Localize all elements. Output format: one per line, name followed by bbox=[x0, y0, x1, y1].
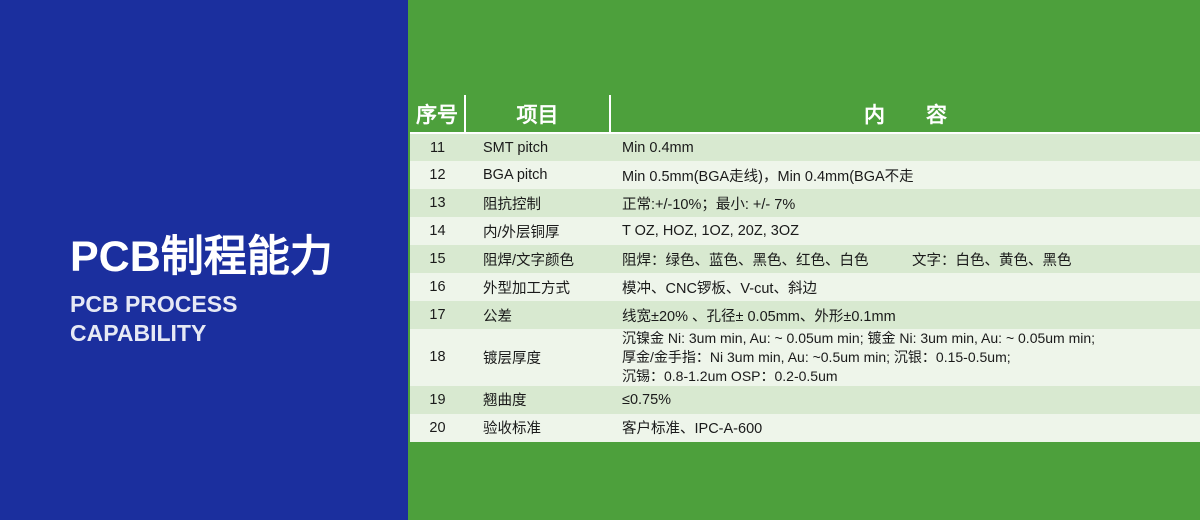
cell-content: 模冲、CNC锣板、V-cut、斜边 bbox=[610, 273, 1200, 301]
capability-table-wrapper: 序号 项目 内 容 11SMT pitchMin 0.4mm12BGA pitc… bbox=[410, 95, 1200, 442]
cell-item: 内/外层铜厚 bbox=[465, 217, 610, 245]
cell-content-primary: 阻焊：绿色、蓝色、黑色、红色、白色 bbox=[622, 249, 912, 270]
table-row: 12BGA pitchMin 0.5mm(BGA走线)，Min 0.4mm(BG… bbox=[410, 161, 1200, 189]
cell-item: 翘曲度 bbox=[465, 386, 610, 414]
cell-no: 12 bbox=[410, 161, 465, 189]
cell-content: 沉镍金 Ni: 3um min, Au: ~ 0.05um min; 镀金 Ni… bbox=[610, 329, 1200, 386]
column-header-no: 序号 bbox=[410, 95, 465, 133]
page-title-en: PCB PROCESS CAPABILITY bbox=[70, 290, 237, 349]
table-body: 11SMT pitchMin 0.4mm12BGA pitchMin 0.5mm… bbox=[410, 133, 1200, 442]
cell-item: 镀层厚度 bbox=[465, 329, 610, 386]
table-header: 序号 项目 内 容 bbox=[410, 95, 1200, 133]
cell-content: 正常:+/-10%；最小: +/- 7% bbox=[610, 189, 1200, 217]
page-title-cn: PCB制程能力 bbox=[70, 222, 333, 284]
cell-no: 17 bbox=[410, 301, 465, 329]
column-header-content: 内 容 bbox=[610, 95, 1200, 133]
cell-item: 公差 bbox=[465, 301, 610, 329]
capability-table: 序号 项目 内 容 11SMT pitchMin 0.4mm12BGA pitc… bbox=[410, 95, 1200, 442]
table-row: 18镀层厚度沉镍金 Ni: 3um min, Au: ~ 0.05um min;… bbox=[410, 329, 1200, 386]
cell-item: 阻焊/文字颜色 bbox=[465, 245, 610, 273]
cell-content-secondary: 文字：白色、黄色、黑色 bbox=[912, 249, 1072, 270]
cell-content: 客户标准、IPC-A-600 bbox=[610, 414, 1200, 442]
table-row: 15阻焊/文字颜色阻焊：绿色、蓝色、黑色、红色、白色文字：白色、黄色、黑色 bbox=[410, 245, 1200, 273]
table-row: 17公差线宽±20% 、孔径± 0.05mm、外形±0.1mm bbox=[410, 301, 1200, 329]
cell-no: 19 bbox=[410, 386, 465, 414]
hero-panel: PCB制程能力 PCB PROCESS CAPABILITY bbox=[0, 0, 408, 520]
cell-content: 阻焊：绿色、蓝色、黑色、红色、白色文字：白色、黄色、黑色 bbox=[610, 245, 1200, 273]
cell-item: BGA pitch bbox=[465, 161, 610, 189]
cell-content-multiline: 沉镍金 Ni: 3um min, Au: ~ 0.05um min; 镀金 Ni… bbox=[622, 329, 1200, 386]
cell-no: 18 bbox=[410, 329, 465, 386]
cell-item: SMT pitch bbox=[465, 133, 610, 161]
cell-no: 14 bbox=[410, 217, 465, 245]
cell-no: 15 bbox=[410, 245, 465, 273]
table-row: 20验收标准客户标准、IPC-A-600 bbox=[410, 414, 1200, 442]
cell-no: 11 bbox=[410, 133, 465, 161]
cell-item: 外型加工方式 bbox=[465, 273, 610, 301]
cell-content: T OZ, HOZ, 1OZ, 20Z, 3OZ bbox=[610, 217, 1200, 245]
cell-content: Min 0.5mm(BGA走线)，Min 0.4mm(BGA不走 bbox=[610, 161, 1200, 189]
table-row: 19翘曲度≤0.75% bbox=[410, 386, 1200, 414]
table-row: 16外型加工方式模冲、CNC锣板、V-cut、斜边 bbox=[410, 273, 1200, 301]
slide-canvas: PCB制程能力 PCB PROCESS CAPABILITY 序号 项目 内 容… bbox=[0, 0, 1200, 520]
cell-no: 16 bbox=[410, 273, 465, 301]
column-header-content-label: 内 容 bbox=[854, 104, 957, 127]
cell-content: 线宽±20% 、孔径± 0.05mm、外形±0.1mm bbox=[610, 301, 1200, 329]
column-header-item: 项目 bbox=[465, 95, 610, 133]
table-header-row: 序号 项目 内 容 bbox=[410, 95, 1200, 133]
table-row: 14内/外层铜厚T OZ, HOZ, 1OZ, 20Z, 3OZ bbox=[410, 217, 1200, 245]
table-row: 11SMT pitchMin 0.4mm bbox=[410, 133, 1200, 161]
cell-no: 13 bbox=[410, 189, 465, 217]
cell-no: 20 bbox=[410, 414, 465, 442]
cell-content: Min 0.4mm bbox=[610, 133, 1200, 161]
cell-item: 验收标准 bbox=[465, 414, 610, 442]
cell-content: ≤0.75% bbox=[610, 386, 1200, 414]
cell-item: 阻抗控制 bbox=[465, 189, 610, 217]
table-row: 13阻抗控制正常:+/-10%；最小: +/- 7% bbox=[410, 189, 1200, 217]
cell-content-split: 阻焊：绿色、蓝色、黑色、红色、白色文字：白色、黄色、黑色 bbox=[622, 249, 1200, 270]
